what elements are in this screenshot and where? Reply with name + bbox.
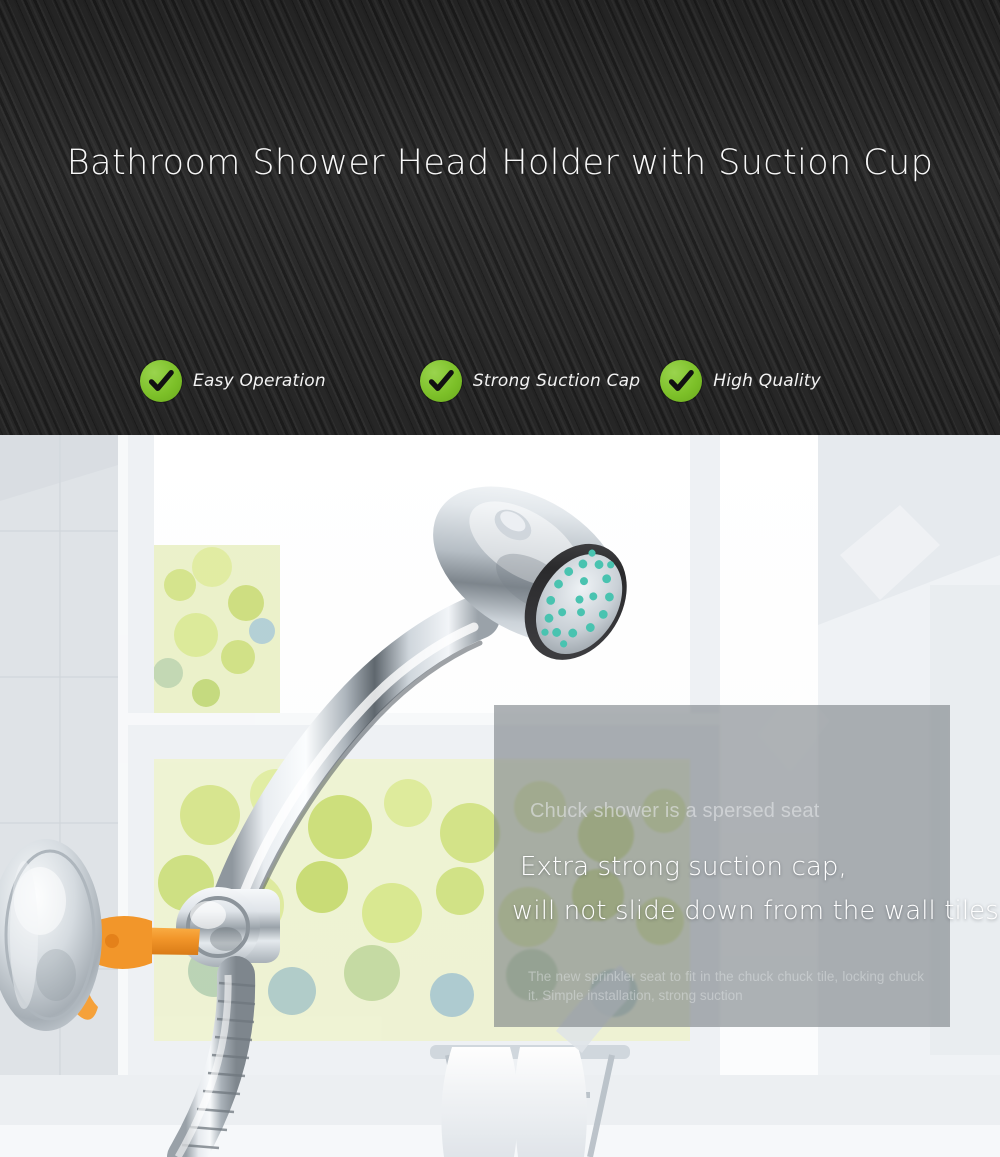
feature-badge-row: Easy Operation Strong Suction Cap High Q… — [140, 355, 860, 407]
check-icon — [420, 360, 462, 402]
feature-item-strong-suction-cap: Strong Suction Cap — [420, 360, 640, 402]
check-icon — [660, 360, 702, 402]
feature-item-high-quality: High Quality — [660, 360, 821, 402]
overlay-line-2: will not slide down from the wall tiles — [494, 889, 950, 933]
overlay-heading: Chuck shower is a spersed seat — [530, 800, 819, 823]
overlay-footer-text: The new sprinkler seat to fit in the chu… — [528, 967, 924, 1005]
feature-label: Strong Suction Cap — [473, 371, 640, 391]
overlay-main-text: Extra strong suction cap, will not slide… — [494, 845, 950, 933]
product-photo: Chuck shower is a spersed seat Extra str… — [0, 435, 1000, 1157]
overlay-info-panel: Chuck shower is a spersed seat Extra str… — [494, 705, 950, 1027]
overlay-line-1: Extra strong suction cap, — [494, 845, 950, 889]
page-title: Bathroom Shower Head Holder with Suction… — [0, 143, 1000, 183]
product-banner: Bathroom Shower Head Holder with Suction… — [0, 0, 1000, 1157]
feature-item-easy-operation: Easy Operation — [140, 360, 326, 402]
banner-header: Bathroom Shower Head Holder with Suction… — [0, 0, 1000, 435]
feature-label: Easy Operation — [193, 371, 326, 391]
feature-label: High Quality — [713, 371, 821, 391]
check-icon — [140, 360, 182, 402]
